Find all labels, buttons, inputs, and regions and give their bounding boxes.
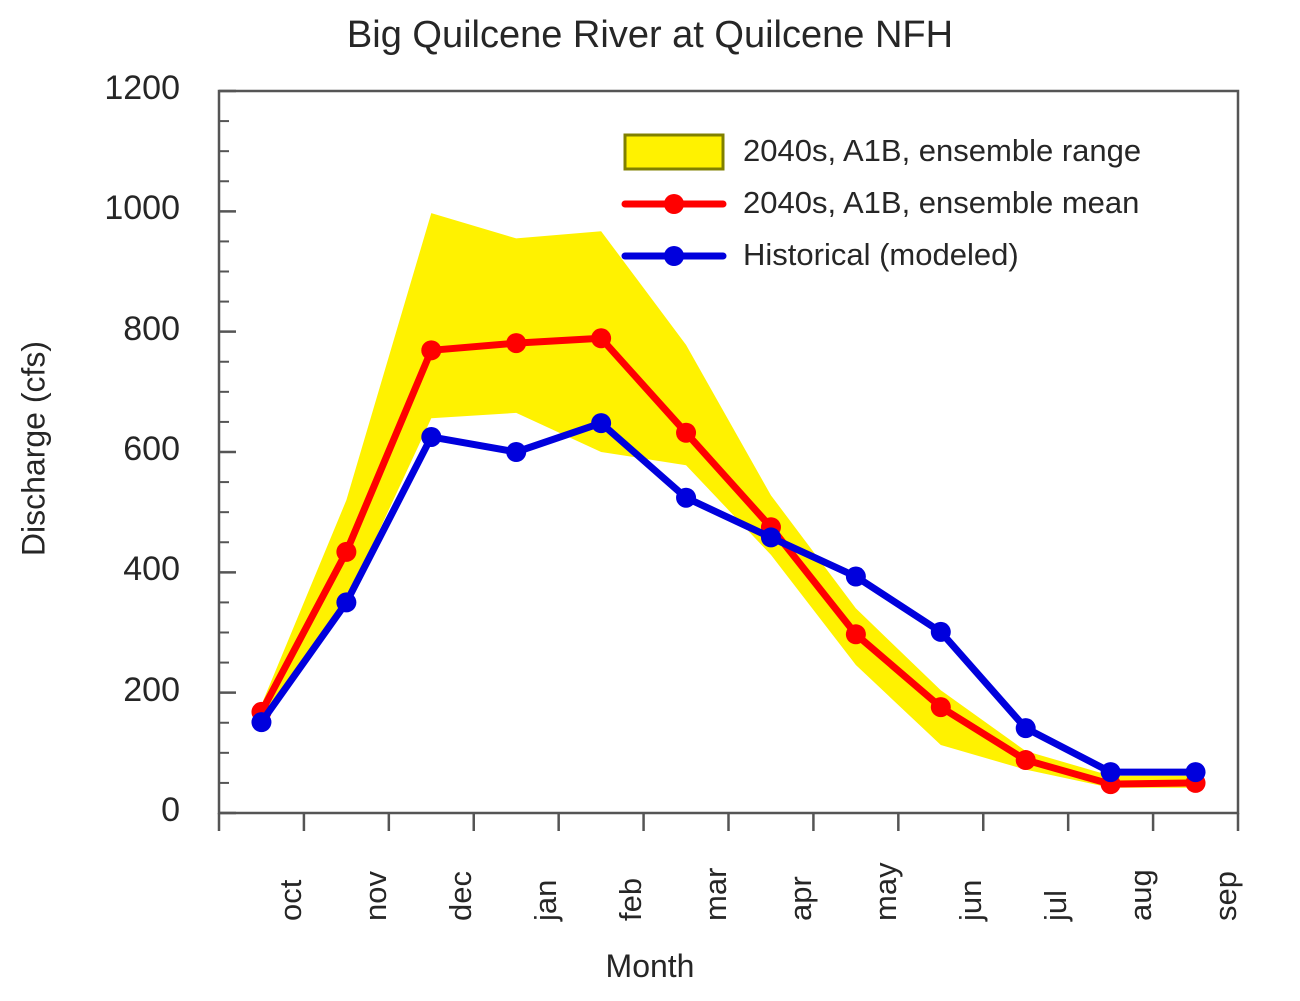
data-point-marker [1016, 718, 1036, 738]
data-point-marker [931, 697, 951, 717]
y-tick-label: 0 [60, 793, 180, 827]
data-point-marker [591, 413, 611, 433]
y-tick-label: 200 [60, 673, 180, 707]
x-tick-label-mar: mar [698, 868, 734, 921]
data-point-marker [676, 423, 696, 443]
data-point-marker [846, 567, 866, 587]
chart-figure: Big Quilcene River at Quilcene NFH Disch… [0, 0, 1300, 1001]
data-point-marker [421, 427, 441, 447]
legend-marker-icon [664, 246, 684, 266]
data-point-marker [931, 622, 951, 642]
legend-swatch-range-icon [625, 135, 723, 169]
y-tick-label: 600 [60, 432, 180, 466]
data-point-marker [1101, 762, 1121, 782]
legend-item-label: 2040s, A1B, ensemble range [743, 133, 1141, 169]
data-point-marker [1186, 762, 1206, 782]
x-axis-ticks [219, 813, 1238, 831]
x-tick-label-feb: feb [613, 878, 649, 921]
y-tick-label: 800 [60, 312, 180, 346]
x-tick-label-sep: sep [1208, 871, 1244, 921]
x-tick-label-jun: jun [953, 880, 989, 921]
x-tick-label-jan: jan [528, 880, 564, 921]
legend-marker-icon [664, 194, 684, 214]
x-tick-label-jul: jul [1038, 890, 1074, 921]
data-point-marker [251, 712, 271, 732]
data-point-marker [676, 488, 696, 508]
x-tick-label-dec: dec [443, 871, 479, 921]
x-tick-label-aug: aug [1123, 869, 1159, 921]
data-point-marker [1016, 750, 1036, 770]
y-tick-label: 1200 [60, 71, 180, 105]
data-point-marker [761, 527, 781, 547]
legend-item-label: 2040s, A1B, ensemble mean [743, 185, 1139, 221]
data-point-marker [421, 340, 441, 360]
y-tick-label: 1000 [60, 191, 180, 225]
data-point-marker [506, 333, 526, 353]
x-tick-label-may: may [868, 862, 904, 921]
data-point-marker [591, 328, 611, 348]
x-tick-label-nov: nov [358, 871, 394, 921]
data-point-marker [336, 542, 356, 562]
data-point-marker [846, 624, 866, 644]
data-point-marker [506, 442, 526, 462]
y-tick-label: 400 [60, 552, 180, 586]
x-tick-label-oct: oct [273, 880, 309, 921]
x-tick-label-apr: apr [783, 876, 819, 921]
legend-item-label: Historical (modeled) [743, 237, 1019, 273]
data-point-marker [336, 592, 356, 612]
